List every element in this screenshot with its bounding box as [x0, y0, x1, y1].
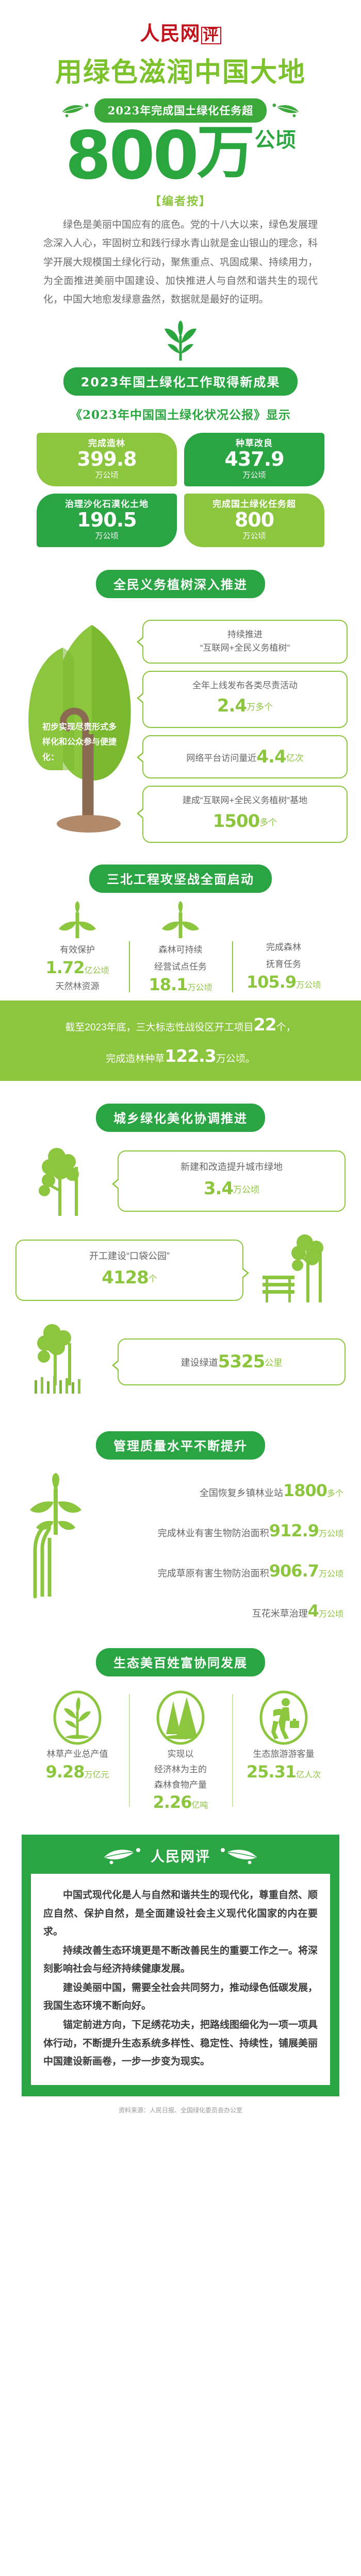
manage-text: 完成草原有害生物防治面积: [158, 1568, 269, 1579]
tourist-circle-icon: [256, 1689, 311, 1747]
eco-label2: 经济林为主的: [133, 1762, 228, 1777]
park-bench-illustration: [248, 1230, 346, 1310]
eco-column: 林草产业总产值 9.28万亿元: [26, 1689, 129, 1812]
section1-title: 2023年国土绿化工作取得新成果: [63, 367, 298, 396]
stat-card-value: 800: [186, 510, 322, 531]
stat-card-unit: 万公顷: [39, 469, 175, 480]
stat-card-unit: 万公顷: [39, 530, 175, 541]
tri-unit: 亿公顷: [84, 967, 109, 975]
section3-columns: 有效保护 1.72亿公顷 天然林资源 森林可持续 经营试点任务 18.1万公顷 …: [0, 901, 361, 994]
section5-lines: 全国恢复乡镇林业站1800多个 完成林业有害生物防治面积912.9万公顷 完成草…: [102, 1473, 343, 1639]
tri-value: 18.1: [149, 975, 188, 994]
section5-title: 管理质量水平不断提升: [96, 1431, 265, 1460]
callout-bubble: 持续推进 “互联网+全民义务植树”: [142, 620, 348, 664]
callout-bubble: 建设绿道5325公里: [118, 1338, 346, 1385]
stat-card-value: 437.9: [186, 449, 322, 470]
hero-unit: 公顷: [255, 130, 296, 151]
bubble-unit: 万多个: [247, 702, 273, 712]
tri-column: 森林可持续 经营试点任务 18.1万公顷: [129, 901, 232, 994]
stat-card: 完成国土绿化任务超 800 万公顷: [184, 494, 324, 547]
bubble-text: 新建和改造提升城市绿地: [128, 1160, 335, 1175]
section3-header: 三北工程攻坚战全面启动: [0, 865, 361, 893]
tri-icon-spacer: [235, 901, 332, 938]
manage-value: 1800: [283, 1481, 327, 1500]
stat-card-value: 190.5: [39, 510, 175, 531]
footer-source: 资料来源：人民日报、全国绿化委员会办公室: [0, 2096, 361, 2126]
manage-line: 全国恢复乡镇林业站1800多个: [102, 1478, 343, 1503]
tri-label-top: 森林可持续: [132, 943, 229, 958]
eco-value-row: 9.28万亿元: [30, 1762, 125, 1782]
stat-card-unit: 万公顷: [186, 530, 322, 541]
section3-band: 截至2023年底，三大标志性战役区开工项目22个， 完成造林种草122.3万公顷…: [0, 1001, 361, 1081]
manage-line: 完成草原有害生物防治面积906.7万公顷: [102, 1558, 343, 1583]
eco-value: 9.28: [46, 1762, 85, 1782]
logo-box-char: 评: [201, 27, 221, 44]
hand-sprout-illustration: [18, 1473, 95, 1604]
pine-circle-icon: [153, 1689, 208, 1747]
callout-bubble: 新建和改造提升城市绿地 3.4万公顷: [118, 1150, 346, 1212]
stat-card: 完成造林 399.8 万公顷: [37, 433, 177, 486]
editor-note-body: 绿色是美丽中国应有的底色。党的十八大以来，绿色发展理念深入人心，牢固树立和践行绿…: [43, 216, 318, 309]
tri-value-row: 105.9万公顷: [235, 972, 332, 992]
hero-block: 2023年完成国土绿化任务超 800 万 公顷: [0, 98, 361, 187]
bubble-unit: 个: [149, 1274, 157, 1284]
eco-icon-wrap: [236, 1689, 331, 1747]
eco-label: 生态旅游游客量: [236, 1747, 331, 1762]
eco-unit: 亿吨: [191, 1801, 208, 1810]
bubble-value-row: 2.4万多个: [152, 692, 338, 720]
callout-bubble: 全年上线发布各类尽责活动 2.4万多个: [142, 671, 348, 728]
eco-column: 生态旅游游客量 25.31亿人次: [232, 1689, 335, 1812]
bubble-text: 开工建设“口袋公园”: [26, 1249, 233, 1264]
eco-label3: 森林食物产量: [133, 1777, 228, 1793]
section2-title: 全民义务植树深入推进: [96, 570, 265, 598]
section1-cards: 完成造林 399.8 万公顷 种草改良 437.9 万公顷 治理沙化石漠化土地 …: [0, 433, 361, 547]
tri-label-top: 完成森林: [235, 940, 332, 955]
manage-value: 912.9: [269, 1521, 319, 1540]
greenway-illustration: [15, 1319, 113, 1404]
eco-label: 林草产业总产值: [30, 1747, 125, 1762]
bubble-line1: 建成“互联网+全民义务植树”基地: [152, 794, 338, 807]
hero-wan-char: 万: [197, 126, 254, 179]
tri-label-top2: 经营试点任务: [132, 960, 229, 975]
tree-illustration: 初步实现尽责形式多样化和公众参与便捷化：: [13, 616, 142, 837]
section4-header: 城乡绿化美化协调推进: [0, 1104, 361, 1132]
section2-header: 全民义务植树深入推进: [0, 570, 361, 598]
city-trees-icon: [26, 1141, 103, 1218]
seedling-icon: [54, 901, 101, 938]
section1-subtitle: 《2023年中国国土绿化状况公报》显示: [0, 405, 361, 422]
eco-unit: 亿人次: [296, 1771, 321, 1780]
section6-header: 生态美百姓富协同发展: [0, 1648, 361, 1676]
editor-note-tag: 【编者按】: [0, 192, 361, 209]
bubble-value-row: 4128个: [26, 1264, 233, 1292]
manage-text: 全国恢复乡镇林业站: [200, 1488, 283, 1498]
masthead: 人民网评 用绿色滋润中国大地: [0, 0, 361, 87]
section6-title: 生态美百姓富协同发展: [96, 1648, 265, 1676]
eco-icon-wrap: [133, 1689, 228, 1747]
eco-value-row: 25.31亿人次: [236, 1762, 331, 1782]
tri-label-bottom: 天然林资源: [29, 979, 126, 994]
bubble-value: 3.4: [204, 1178, 233, 1199]
section4-title: 城乡绿化美化协调推进: [96, 1104, 265, 1132]
band-text-pre2: 完成造林种草: [106, 1054, 165, 1064]
greenway-icon: [23, 1319, 106, 1402]
manage-text: 互花米草治理: [252, 1608, 308, 1619]
manage-value: 906.7: [269, 1561, 319, 1581]
stat-card-unit: 万公顷: [186, 469, 322, 480]
section2-bubbles: 持续推进 “互联网+全民义务植树” 全年上线发布各类尽责活动 2.4万多个 网络…: [142, 616, 348, 843]
callout-bubble: 开工建设“口袋公园” 4128个: [15, 1240, 243, 1301]
eco-label: 实现以: [133, 1747, 228, 1762]
logo-text: 人民网: [140, 22, 200, 45]
leaf-ornament-left-icon: [101, 1845, 145, 1866]
sprout-leaves-icon: [152, 320, 209, 363]
band-text-pre: 截至2023年底，三大标志性战役区开工项目: [65, 1022, 253, 1033]
hero-number: 800: [65, 126, 196, 187]
sprout-decoration: [0, 320, 361, 365]
bubble-line1: 持续推进: [152, 628, 338, 641]
band-value-2: 122.3: [165, 1046, 216, 1066]
bubble-value: 4.4: [256, 747, 286, 767]
tri-column: 完成森林 抚育任务 105.9万公顷: [232, 901, 335, 994]
section5-block: 全国恢复乡镇林业站1800多个 完成林业有害生物防治面积912.9万公顷 完成草…: [0, 1473, 361, 1639]
eco-column: 实现以 经济林为主的 森林食物产量 2.26亿吨: [129, 1689, 232, 1812]
commentary-paragraph: 建设美丽中国，需要全社会共同努力，推动绿色低碳发展，我国生态环境不断向好。: [43, 1979, 318, 2015]
bubble-unit: 亿次: [286, 753, 304, 763]
manage-unit: 万公顷: [319, 1610, 343, 1619]
section3-title: 三北工程攻坚战全面启动: [89, 865, 272, 893]
bubble-value: 5325: [218, 1351, 265, 1372]
bubble-line1: 全年上线发布各类尽责活动: [152, 679, 338, 692]
manage-value: 4: [308, 1601, 319, 1621]
stat-card: 种草改良 437.9 万公顷: [184, 433, 324, 486]
manage-unit: 万公顷: [319, 1570, 343, 1579]
tri-unit: 万公顷: [187, 984, 212, 992]
eco-value: 2.26: [153, 1792, 192, 1812]
band-value-1: 22: [254, 1014, 276, 1035]
callout-bubble: 网络平台访问量近4.4亿次: [142, 735, 348, 779]
bubble-value: 4128: [102, 1267, 149, 1288]
eco-value: 25.31: [247, 1762, 296, 1782]
tri-unit: 万公顷: [296, 981, 321, 990]
eco-icon-wrap: [30, 1689, 125, 1747]
commentary-paragraph: 持续改善生态环境更是不断改善民生的重要工作之一。将深刻影响社会与经济持续健康发展…: [43, 1942, 318, 1978]
seedling-icon: [157, 901, 204, 938]
commentary-body: 中国式现代化是人与自然和谐共生的现代化，尊重自然、顺应自然、保护自然，是全面建设…: [31, 1874, 330, 2084]
park-bench-icon: [255, 1230, 338, 1308]
peoples-daily-online-logo: 人民网评: [140, 24, 221, 44]
section6-columns: 林草产业总产值 9.28万亿元 实现以 经济林为主的 森林食物产量 2.26亿吨: [0, 1689, 361, 1812]
bubble-value: 2.4: [217, 696, 247, 716]
bubble-value-row: 建设绿道5325公里: [128, 1348, 335, 1376]
tri-value-row: 18.1万公顷: [132, 975, 229, 994]
manage-unit: 多个: [327, 1489, 343, 1498]
commentary-paragraph: 锚定前进方向，下足绣花功夫，把路线图细化为一项一项具体行动，不断提升生态系统多样…: [43, 2016, 318, 2070]
eco-unit: 万亿元: [84, 1771, 109, 1780]
leaf-ornament-left-icon: [60, 101, 90, 119]
bubble-value: 1500: [213, 811, 260, 832]
bubble-unit: 万公顷: [233, 1185, 259, 1195]
eco-value-row: 2.26亿吨: [133, 1792, 228, 1812]
section1-header: 2023年国土绿化工作取得新成果: [0, 367, 361, 396]
section4-row-1: 新建和改造提升城市绿地 3.4万公顷: [0, 1141, 361, 1221]
band-text-mid: 个，: [276, 1022, 296, 1033]
tri-label-top: 有效保护: [29, 943, 126, 958]
commentary-header: 人民网评: [31, 1845, 330, 1866]
section5-header: 管理质量水平不断提升: [0, 1431, 361, 1460]
tri-value: 1.72: [46, 958, 85, 977]
bubble-line1: 网络平台访问量近: [186, 753, 256, 763]
bubble-unit: 公里: [265, 1358, 282, 1368]
band-text-end: 万公顷。: [216, 1054, 255, 1064]
tri-value-row: 1.72亿公顷: [29, 958, 126, 977]
manage-line: 完成林业有害生物防治面积912.9万公顷: [102, 1518, 343, 1543]
tri-label-top2: 抚育任务: [235, 957, 332, 972]
bubble-text: 建设绿道: [181, 1358, 218, 1368]
bubble-value-row: 3.4万公顷: [128, 1175, 335, 1202]
commentary-block: 人民网评 中国式现代化是人与自然和谐共生的现代化，尊重自然、顺应自然、保护自然，…: [22, 1835, 339, 2096]
commentary-paragraph: 中国式现代化是人与自然和谐共生的现代化，尊重自然、顺应自然、保护自然，是全面建设…: [43, 1886, 318, 1940]
stat-card: 治理沙化石漠化土地 190.5 万公顷: [37, 494, 177, 547]
callout-bubble: 建成“互联网+全民义务植树”基地 1500多个: [142, 786, 348, 843]
infographic-page: 人民网评 用绿色滋润中国大地 2023年完成国土绿化任务超 800 万 公顷: [0, 0, 361, 2126]
section4-row-2: 开工建设“口袋公园” 4128个: [0, 1230, 361, 1310]
leaf-ornament-right-icon: [271, 101, 301, 119]
commentary-title: 人民网评: [151, 1845, 210, 1866]
tri-value: 105.9: [247, 972, 296, 992]
bubble-value-row: 网络平台访问量近4.4亿次: [152, 743, 338, 771]
city-trees-illustration: [15, 1141, 113, 1221]
hand-holding-sprout-icon: [18, 1473, 95, 1602]
hero-number-row: 800 万 公顷: [0, 126, 361, 187]
page-title: 用绿色滋润中国大地: [0, 59, 361, 87]
stat-card-value: 399.8: [39, 449, 175, 470]
section2-tree-block: 初步实现尽责形式多样化和公众参与便捷化： 持续推进 “互联网+全民义务植树” 全…: [0, 616, 361, 843]
bubble-value-row: 1500多个: [152, 808, 338, 835]
manage-text: 完成林业有害生物防治面积: [158, 1528, 269, 1538]
bubble-line2: “互联网+全民义务植树”: [152, 641, 338, 655]
leaf-ornament-right-icon: [216, 1845, 260, 1866]
tri-column: 有效保护 1.72亿公顷 天然林资源: [26, 901, 129, 994]
tree-caption: 初步实现尽责形式多样化和公众参与便捷化：: [42, 720, 120, 766]
manage-line: 互花米草治理4万公顷: [102, 1599, 343, 1623]
section4-row-3: 建设绿道5325公里: [0, 1319, 361, 1404]
sprout-circle-icon: [50, 1689, 105, 1747]
bubble-unit: 多个: [259, 818, 277, 827]
manage-unit: 万公顷: [319, 1530, 343, 1538]
